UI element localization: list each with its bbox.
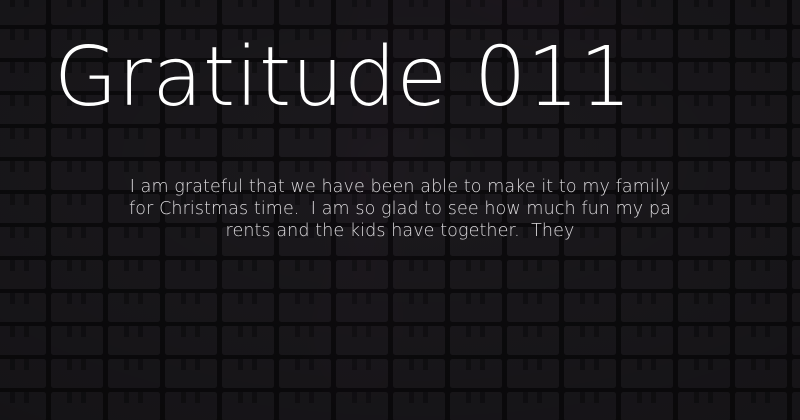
gratitude-body-text: I am grateful that we have been able to … [50,176,750,242]
gratitude-card: Gratitude 011 I am grateful that we have… [0,0,800,420]
body-line: for Christmas time. I am so glad to see … [50,198,750,220]
card-content: Gratitude 011 I am grateful that we have… [0,0,800,420]
body-line: I am grateful that we have been able to … [50,176,750,198]
page-title: Gratitude 011 [54,30,632,126]
body-line: rents and the kids have together. They [50,220,750,242]
